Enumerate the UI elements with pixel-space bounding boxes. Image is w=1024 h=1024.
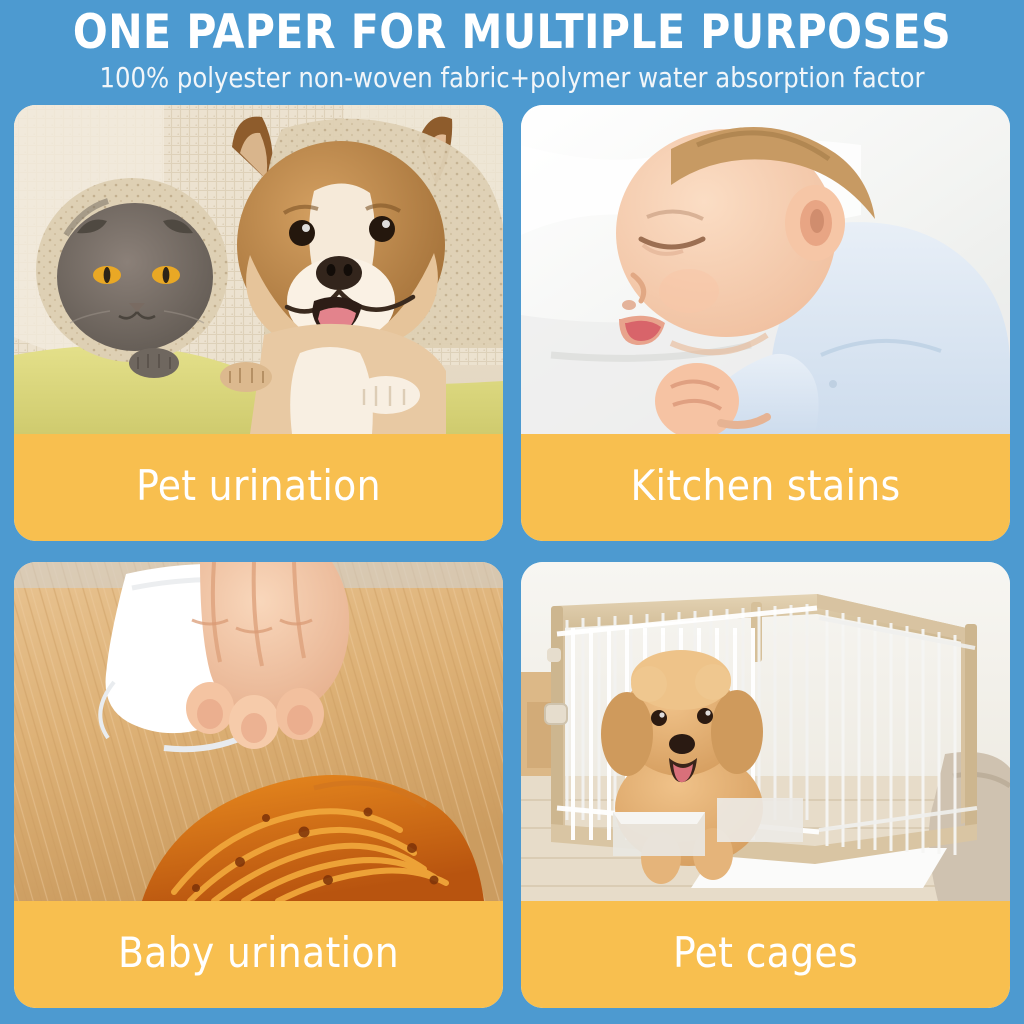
photo-hand-wiping-spill (14, 562, 503, 901)
photo-cat-and-corgi (14, 105, 503, 434)
card-caption: Kitchen stains (521, 434, 1010, 541)
header: ONE PAPER FOR MULTIPLE PURPOSES 100% pol… (0, 0, 1024, 100)
photo-poodle-in-pet-cage (521, 562, 1010, 901)
hand-wiping-spill-illustration (14, 562, 503, 901)
use-case-card-kitchen-stains[interactable]: Kitchen stains (521, 105, 1010, 541)
card-caption: Pet urination (14, 434, 503, 541)
sleeping-baby-illustration (521, 105, 1010, 434)
page-title: ONE PAPER FOR MULTIPLE PURPOSES (15, 6, 1008, 60)
poodle-in-pet-cage-illustration (521, 562, 1010, 901)
card-caption: Pet cages (521, 901, 1010, 1008)
photo-sleeping-baby (521, 105, 1010, 434)
use-case-card-pet-urination[interactable]: Pet urination (14, 105, 503, 541)
cat-and-corgi-illustration (14, 105, 503, 434)
use-case-card-pet-cages[interactable]: Pet cages (521, 562, 1010, 1008)
use-case-grid: Pet urination (14, 105, 1010, 1008)
card-caption: Baby urination (14, 901, 503, 1008)
product-infographic: ONE PAPER FOR MULTIPLE PURPOSES 100% pol… (0, 0, 1024, 1024)
use-case-card-baby-urination[interactable]: Baby urination (14, 562, 503, 1008)
page-subtitle: 100% polyester non-woven fabric+polymer … (8, 61, 1017, 95)
